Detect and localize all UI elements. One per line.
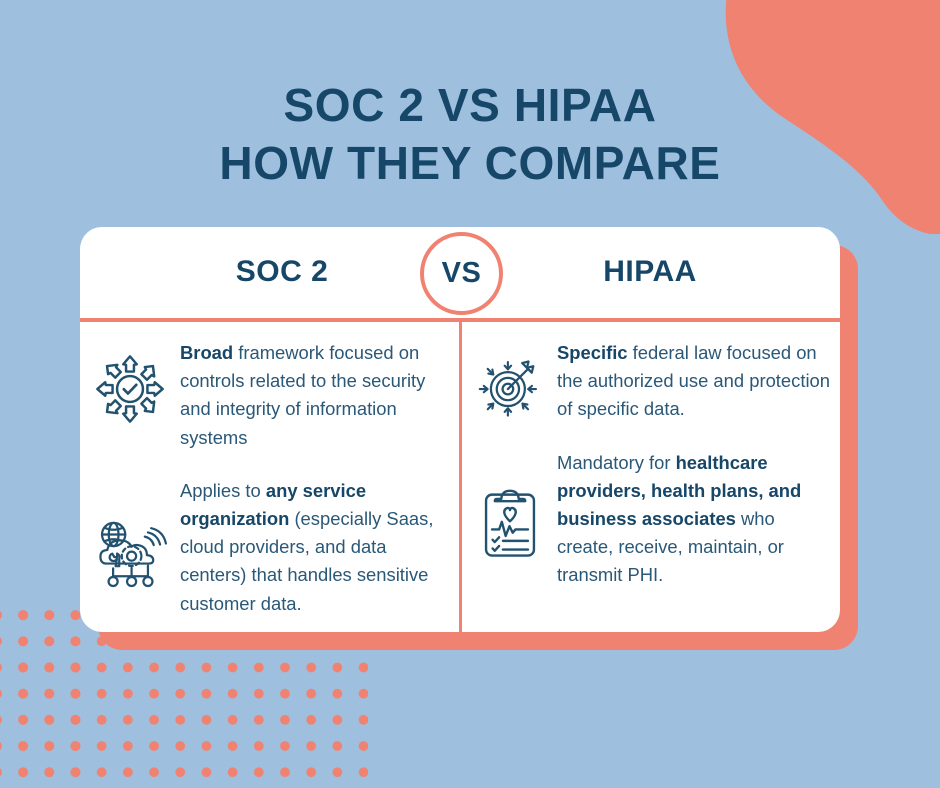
column-header-hipaa: HIPAA	[480, 255, 820, 289]
soc2-row-2: Applies to any service organization (esp…	[80, 452, 461, 618]
soc2-column: Broad framework focused on controls rela…	[80, 320, 461, 618]
hipaa-row-1-lead: Specific	[557, 342, 628, 363]
bottom-left-dot-grid-column	[0, 598, 82, 788]
column-header-soc2: SOC 2	[102, 255, 462, 289]
soc2-row-2-text: Applies to any service organization (esp…	[180, 477, 450, 618]
hipaa-column: Specific federal law focused on the auth…	[462, 320, 840, 590]
soc2-row-1: Broad framework focused on controls rela…	[80, 320, 461, 452]
hipaa-row-2-text: Mandatory for healthcare providers, heal…	[557, 449, 833, 590]
soc2-row-1-lead: Broad	[180, 342, 233, 363]
soc2-row-2-pre: Applies to	[180, 480, 266, 501]
gear-check-icon	[80, 339, 180, 425]
page-title-line-1: SOC 2 VS HIPAA	[0, 76, 940, 134]
vs-badge-label: VS	[442, 259, 482, 288]
hipaa-row-1: Specific federal law focused on the auth…	[462, 320, 840, 424]
medical-clipboard-icon	[462, 449, 557, 561]
infographic-canvas: SOC 2 VS HIPAA HOW THEY COMPARE SOC 2 HI…	[0, 0, 940, 788]
target-arrow-icon	[462, 339, 557, 423]
vs-badge: VS	[420, 232, 503, 315]
hipaa-row-2-pre: Mandatory for	[557, 452, 676, 473]
hipaa-row-1-text: Specific federal law focused on the auth…	[557, 339, 833, 424]
page-title: SOC 2 VS HIPAA HOW THEY COMPARE	[0, 76, 940, 192]
cloud-network-gear-icon	[80, 477, 180, 591]
page-title-line-2: HOW THEY COMPARE	[0, 134, 940, 192]
soc2-row-1-text: Broad framework focused on controls rela…	[180, 339, 450, 452]
hipaa-row-2: Mandatory for healthcare providers, heal…	[462, 424, 840, 590]
